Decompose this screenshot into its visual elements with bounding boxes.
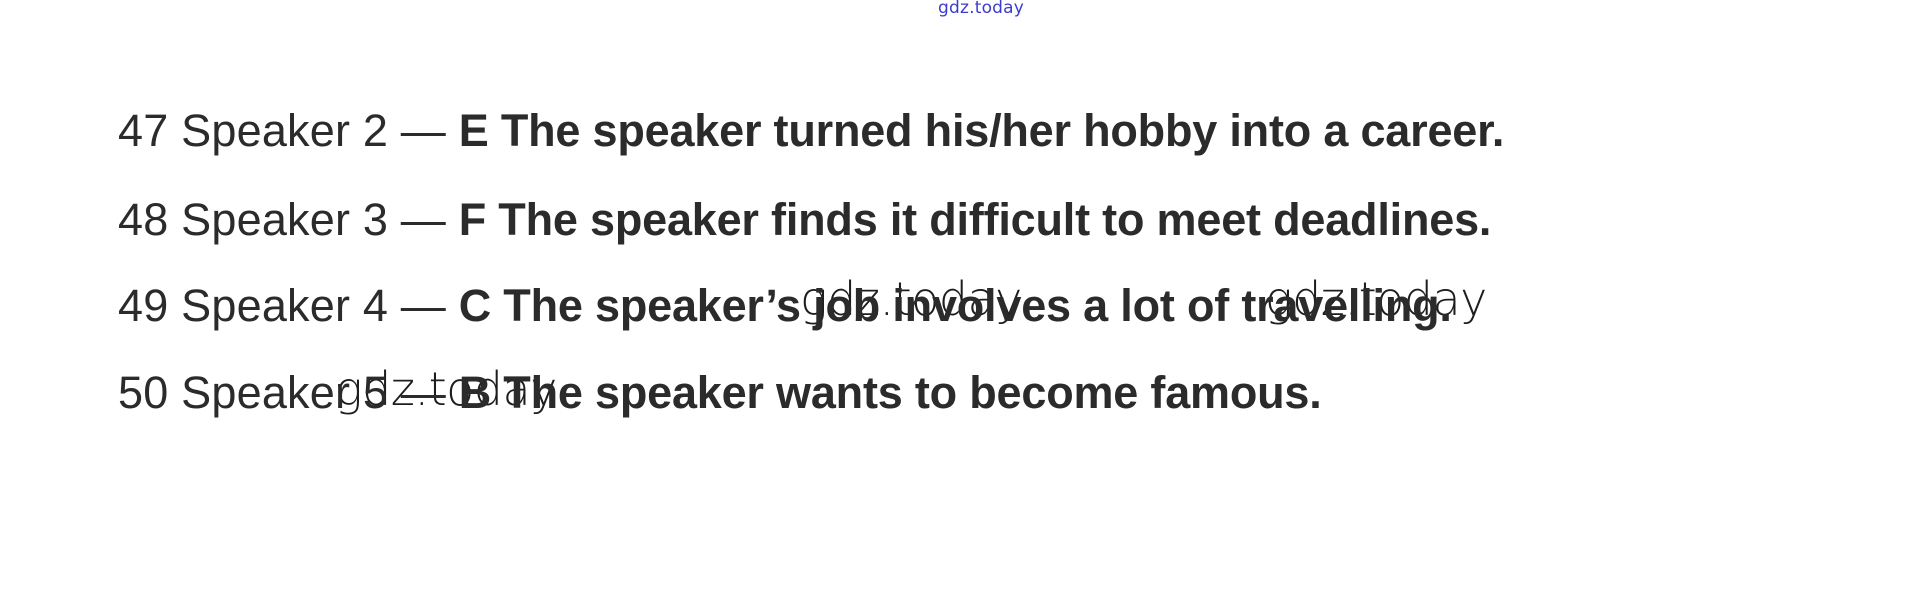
- answer-item-47: 47 Speaker 2 — E The speaker turned his/…: [118, 108, 1878, 153]
- answer-prefix-50: 50 Speaker 5 —: [118, 367, 459, 418]
- answer-statement-49: C The speaker’s job involves a lot of tr…: [459, 280, 1452, 331]
- answer-item-48: 48 Speaker 3 — F The speaker finds it di…: [118, 197, 1878, 242]
- answer-prefix-47: 47 Speaker 2 —: [118, 105, 459, 156]
- answer-statement-47: E The speaker turned his/her hobby into …: [459, 105, 1505, 156]
- answer-item-49: 49 Speaker 4 — C The speaker’s job invol…: [118, 283, 1878, 328]
- answer-item-50: 50 Speaker 5 — B The speaker wants to be…: [118, 370, 1878, 415]
- answer-statement-48: F The speaker finds it difficult to meet…: [459, 194, 1492, 245]
- answer-prefix-48: 48 Speaker 3 —: [118, 194, 459, 245]
- watermark-top-gdz-today: gdz.today: [938, 0, 1024, 18]
- answer-key-page: gdz.today gdz.today gdz.today gdz.today …: [0, 0, 1927, 604]
- answer-list: 47 Speaker 2 — E The speaker turned his/…: [118, 108, 1878, 415]
- answer-prefix-49: 49 Speaker 4 —: [118, 280, 459, 331]
- answer-statement-50: B The speaker wants to become famous.: [459, 367, 1322, 418]
